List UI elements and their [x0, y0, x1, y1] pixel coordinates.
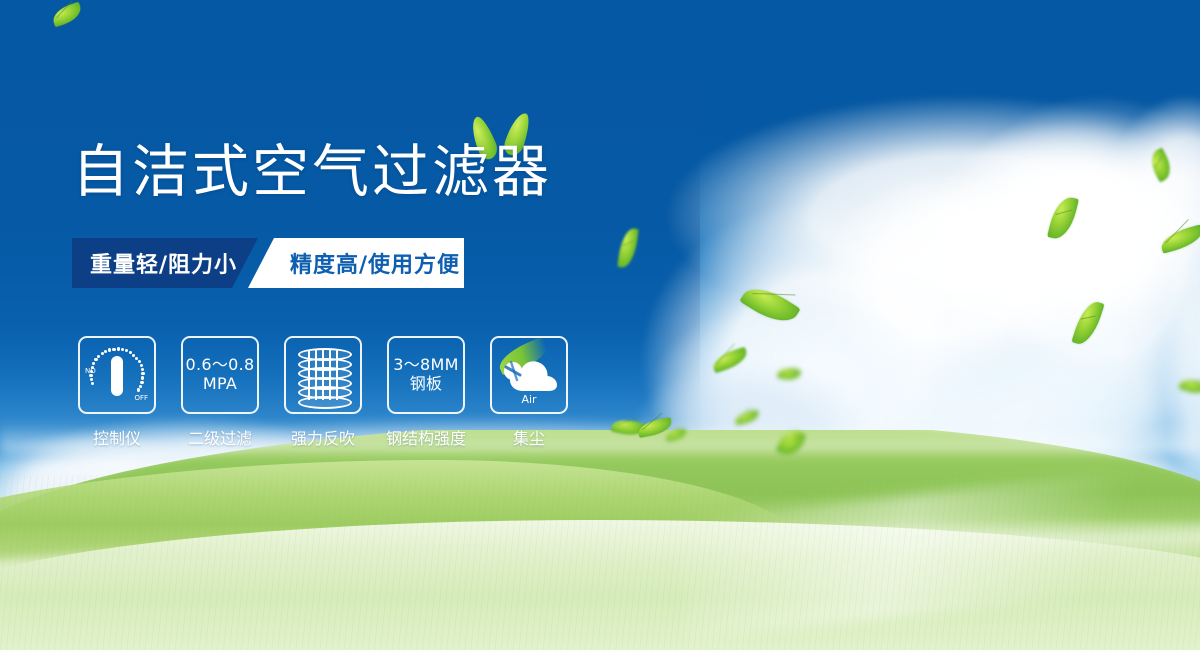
gauge-tick: [101, 352, 104, 355]
gauge-on-label: NO: [85, 367, 96, 375]
gauge-tick: [104, 350, 107, 353]
plate-thickness-value: 3～8MM: [393, 355, 458, 374]
cartridge-bar: [329, 350, 331, 400]
gauge-tick: [137, 388, 140, 391]
feature-item-controller[interactable]: NOOFF 控制仪: [78, 336, 156, 449]
gauge-tick: [141, 368, 144, 371]
gauge-needle: [111, 356, 123, 396]
page-title: 自洁式空气过滤器: [72, 144, 552, 201]
feature-icon-box: [284, 336, 362, 414]
feature-item-dust-collection[interactable]: Air 集尘: [490, 336, 568, 449]
gauge-tick: [138, 360, 141, 363]
feature-label: 集尘: [513, 425, 545, 449]
gauge-tick: [140, 364, 143, 367]
cartridge-ring: [298, 396, 352, 409]
feature-label: 强力反吹: [291, 425, 355, 449]
subtitle-right-panel: 精度高/使用方便: [248, 238, 464, 288]
cartridge-bar: [308, 350, 310, 400]
gauge-tick: [141, 376, 144, 379]
filter-cartridge-icon: [296, 346, 350, 404]
plate-material: 钢板: [393, 375, 458, 394]
subtitle-bar: 重量轻/阻力小 精度高/使用方便: [72, 238, 464, 288]
pressure-value: 0.6～0.8: [186, 355, 255, 374]
cartridge-bar: [322, 350, 324, 400]
plate-thickness-text: 3～8MM 钢板: [393, 356, 458, 394]
subtitle-right-text: 精度高/使用方便: [290, 247, 460, 279]
pressure-unit: MPA: [186, 375, 255, 394]
feature-list: NOOFF 控制仪 0.6～0.8 MPA 二级过滤 强力反吹: [78, 336, 568, 449]
grass-texture: [0, 475, 1200, 650]
gauge-tick: [91, 382, 94, 385]
pressure-text: 0.6～0.8 MPA: [186, 356, 255, 394]
cartridge-bar: [315, 350, 317, 400]
air-cloud-icon: Air: [497, 345, 561, 405]
gauge-tick: [97, 355, 100, 358]
feature-item-two-stage-filter[interactable]: 0.6～0.8 MPA 二级过滤: [181, 336, 259, 449]
subtitle-left-panel: 重量轻/阻力小: [72, 238, 258, 288]
gauge-tick: [108, 348, 111, 351]
gauge-tick: [121, 348, 124, 351]
gauge-tick: [90, 378, 93, 381]
gauge-tick: [140, 381, 143, 384]
feature-label: 钢结构强度: [386, 425, 466, 449]
gauge-off-label: OFF: [134, 394, 148, 402]
gauge-tick: [92, 362, 95, 365]
gauge-tick: [141, 372, 144, 375]
feature-item-steel-structure[interactable]: 3～8MM 钢板 钢结构强度: [387, 336, 465, 449]
gauge-tick: [117, 347, 120, 350]
feature-label: 控制仪: [93, 425, 141, 449]
gauge-tick: [112, 348, 115, 351]
feature-icon-box: NOOFF: [78, 336, 156, 414]
gauge-tick: [94, 358, 97, 361]
gauge-icon: NOOFF: [85, 344, 149, 406]
feature-icon-box: 0.6～0.8 MPA: [181, 336, 259, 414]
grass-field: [0, 430, 1200, 650]
subtitle-left-text: 重量轻/阻力小: [90, 247, 237, 279]
gauge-tick: [125, 349, 128, 352]
feature-item-pulse-jet[interactable]: 强力反吹: [284, 336, 362, 449]
cartridge-bar: [336, 350, 338, 400]
air-label: Air: [497, 393, 561, 406]
feature-icon-box: 3～8MM 钢板: [387, 336, 465, 414]
feature-label: 二级过滤: [188, 425, 252, 449]
hero-banner: 自洁式空气过滤器 重量轻/阻力小 精度高/使用方便 NOOFF 控制仪 0.6～…: [0, 0, 1200, 650]
feature-icon-box: Air: [490, 336, 568, 414]
